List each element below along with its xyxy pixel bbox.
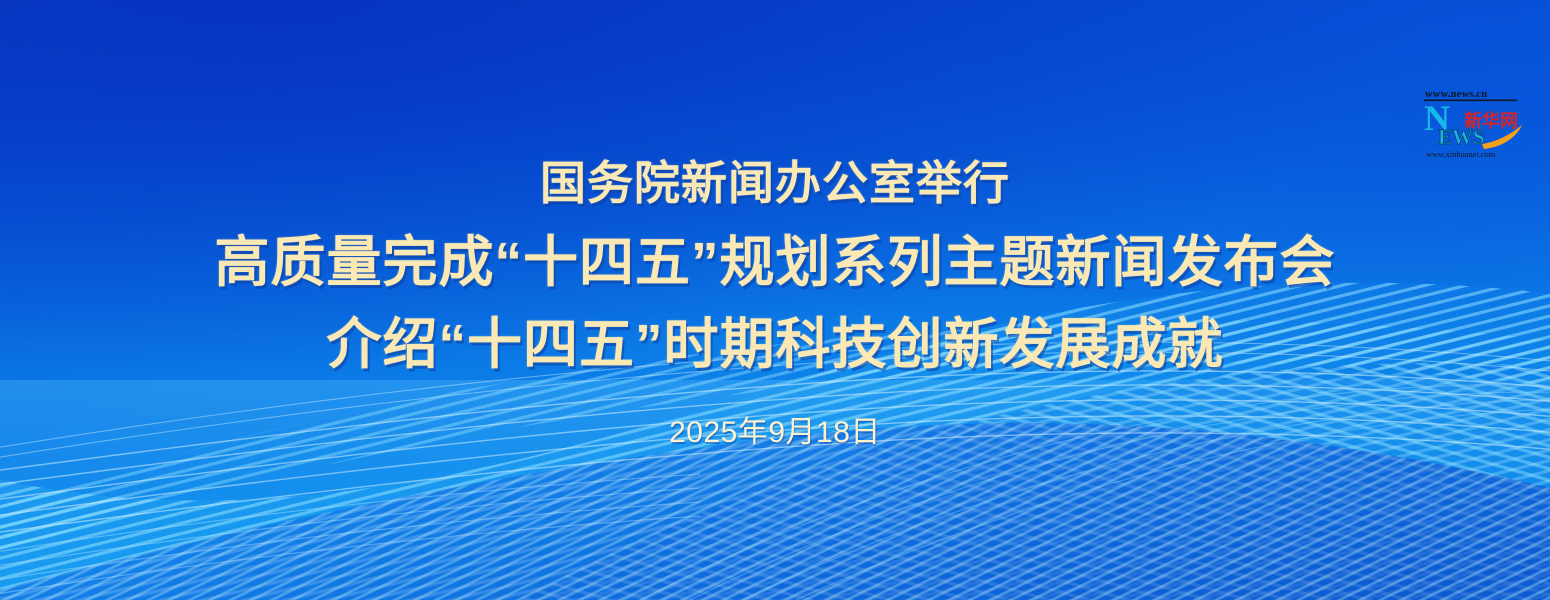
headline-line-3: 介绍“十四五”时期科技创新发展成就 (326, 317, 1223, 372)
logo-bottom-url-text: www.xinhuanet.com (1426, 150, 1496, 159)
logo-brand-cn: 新华网 (1464, 110, 1518, 132)
event-date: 2025年9月18日 (669, 418, 881, 448)
headline-block: 国务院新闻办公室举行 高质量完成“十四五”规划系列主题新闻发布会 介绍“十四五”… (0, 0, 1550, 600)
xinhua-logo: www.news.cn N EWS 新华网 www.xinhuanet.com (1422, 86, 1528, 160)
xinhua-logo-mark: www.news.cn N EWS 新华网 www.xinhuanet.com (1422, 86, 1528, 160)
headline-line-1: 国务院新闻办公室举行 (540, 160, 1010, 206)
press-conference-backdrop: 国务院新闻办公室举行 高质量完成“十四五”规划系列主题新闻发布会 介绍“十四五”… (0, 0, 1550, 600)
headline-line-2: 高质量完成“十四五”规划系列主题新闻发布会 (214, 235, 1335, 290)
